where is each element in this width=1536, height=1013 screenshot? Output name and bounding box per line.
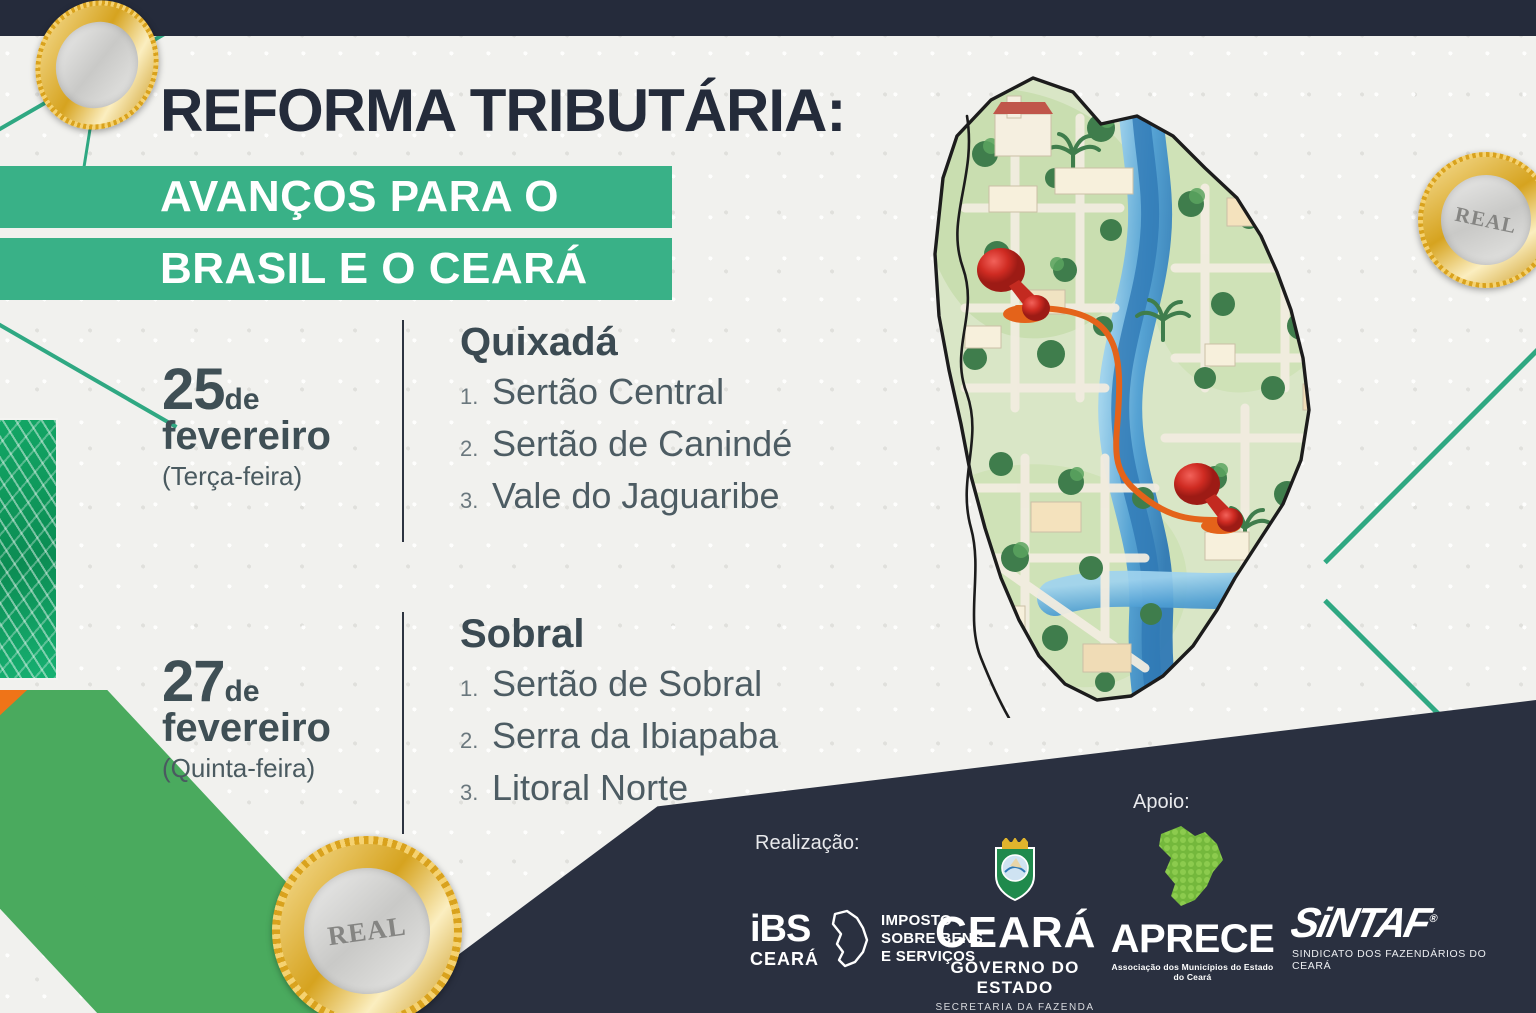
list-item: 1.Sertão Central [460, 366, 792, 418]
list-item-number: 1. [460, 381, 482, 413]
list-item: 2.Sertão de Canindé [460, 418, 792, 470]
region-list: 1.Sertão Central 2.Sertão de Canindé 3.V… [460, 366, 792, 523]
event-day: 27de [162, 654, 398, 709]
subtitle-line-2: BRASIL E O CEARÁ [160, 247, 588, 291]
realizacao-label: Realização: [755, 832, 860, 855]
event-divider [402, 612, 404, 834]
page-title: REFORMA TRIBUTÁRIA: [160, 76, 845, 145]
list-item-number: 2. [460, 433, 482, 465]
poster-canvas: REFORMA TRIBUTÁRIA: AVANÇOS PARA O BRASI… [0, 0, 1536, 1013]
logo-governo-ceara: CEARÁ GOVERNO DO ESTADO SECRETARIA DA FA… [935, 838, 1095, 1013]
event-month: fevereiro [162, 707, 398, 749]
list-item-number: 3. [460, 485, 482, 517]
list-item-number: 2. [460, 725, 482, 757]
sintaf-name: SiNTAF® [1288, 902, 1497, 944]
coin-one-real-right: REAL [1405, 139, 1536, 300]
logo-sintaf: SiNTAF® SINDICATO DOS FAZENDÁRIOS DO CEA… [1292, 902, 1492, 972]
event-regions-block: Sobral 1.Sertão de Sobral 2.Serra da Ibi… [398, 608, 778, 815]
registered-mark: ® [1428, 913, 1437, 925]
event-divider [402, 320, 404, 542]
event-regions-block: Quixadá 1.Sertão Central 2.Sertão de Can… [398, 316, 792, 523]
event-month: fevereiro [162, 415, 398, 457]
ibs-state: CEARÁ [750, 950, 819, 968]
ceara-outline-icon [827, 908, 873, 970]
aprece-ceara-shape-icon [1147, 820, 1239, 912]
subtitle-band-1: AVANÇOS PARA O [0, 166, 672, 228]
event-date-block: 27de fevereiro (Quinta-feira) [150, 608, 398, 784]
aprece-tagline: Associação dos Municípios do Estado do C… [1110, 962, 1275, 982]
list-item-label: Sertão Central [492, 366, 724, 418]
list-item: 3.Vale do Jaguaribe [460, 470, 792, 522]
list-item-number: 3. [460, 777, 482, 809]
list-item-number: 1. [460, 673, 482, 705]
event-city: Sobral [460, 612, 778, 656]
map-interior [905, 58, 1375, 718]
sintaf-tagline: SINDICATO DOS FAZENDÁRIOS DO CEARÁ [1292, 948, 1492, 972]
ceara-name: CEARÁ [935, 911, 1095, 955]
ceara-subtitle: GOVERNO DO ESTADO [935, 958, 1095, 998]
list-item-label: Sertão de Sobral [492, 658, 762, 710]
event-city: Quixadá [460, 320, 792, 364]
ibs-acronym: iBS [750, 910, 819, 948]
aprece-name: APRECE [1110, 919, 1275, 959]
ibs-wordmark: iBS CEARÁ [750, 910, 819, 968]
list-item: 1.Sertão de Sobral [460, 658, 778, 710]
event-day: 25de [162, 362, 398, 417]
list-item: 2.Serra da Ibiapaba [460, 710, 778, 762]
ceara-department: SECRETARIA DA FAZENDA [935, 1002, 1095, 1013]
subtitle-line-1: AVANÇOS PARA O [160, 175, 559, 219]
event-date-block: 25de fevereiro (Terça-feira) [150, 316, 398, 492]
list-item-label: Serra da Ibiapaba [492, 710, 778, 762]
subtitle-band-2: BRASIL E O CEARÁ [0, 238, 672, 300]
event-schedule: 25de fevereiro (Terça-feira) Quixadá 1.S… [150, 316, 890, 848]
apoio-label: Apoio: [1133, 791, 1190, 814]
list-item-label: Vale do Jaguaribe [492, 470, 780, 522]
list-item-label: Sertão de Canindé [492, 418, 792, 470]
brasao-ceara-icon [988, 838, 1042, 902]
event-weekday: (Quinta-feira) [162, 753, 398, 784]
logo-aprece: APRECE Associação dos Municípios do Esta… [1110, 820, 1275, 982]
illustrated-map-ceara [905, 58, 1375, 718]
leaf-texture-panel [0, 418, 58, 680]
event-weekday: (Terça-feira) [162, 461, 398, 492]
event-item: 25de fevereiro (Terça-feira) Quixadá 1.S… [150, 316, 890, 556]
top-navy-bar [0, 0, 1536, 36]
region-list: 1.Sertão de Sobral 2.Serra da Ibiapaba 3… [460, 658, 778, 815]
